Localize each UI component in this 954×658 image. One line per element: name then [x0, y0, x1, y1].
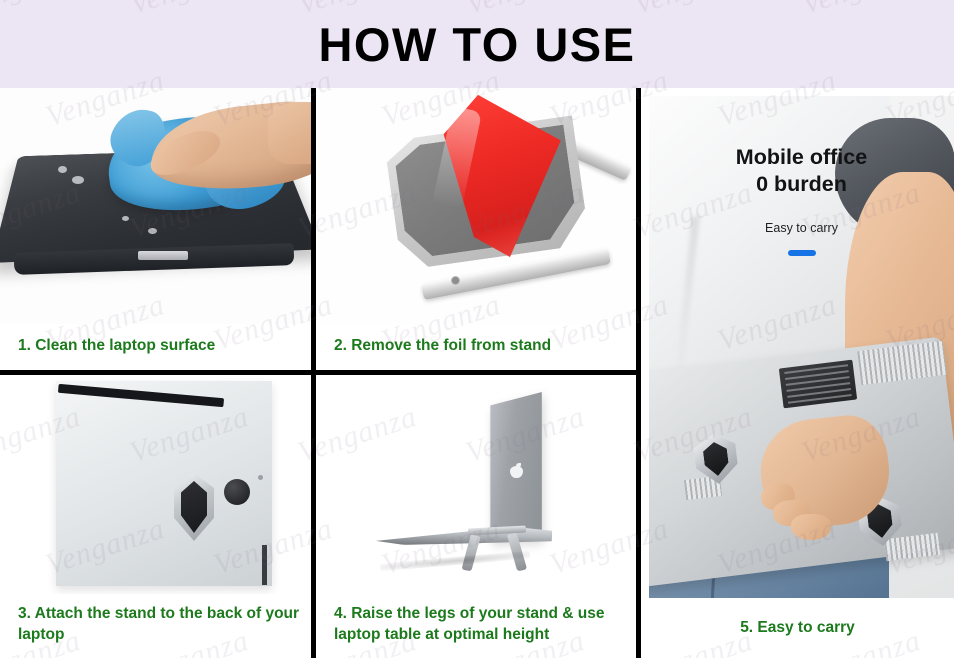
page-title: HOW TO USE [318, 17, 635, 72]
left-column: 1. Clean the laptop surface 2. Remove th… [0, 88, 636, 658]
page-header: HOW TO USE [0, 0, 954, 88]
apple-logo-icon [510, 463, 523, 478]
step-card-3: 3. Attach the stand to the back of your … [0, 375, 311, 658]
step-3-caption: 3. Attach the stand to the back of your … [18, 604, 301, 645]
step-4-photo [316, 375, 636, 594]
how-to-use-infographic: HOW TO USE [0, 0, 954, 658]
step-2-caption: 2. Remove the foil from stand [334, 336, 551, 357]
step-3-caption-bar: 3. Attach the stand to the back of your … [0, 594, 311, 658]
step-card-1: 1. Clean the laptop surface [0, 88, 311, 370]
step-4-caption: 4. Raise the legs of your stand & use la… [334, 604, 626, 645]
step-5-caption: 5. Easy to carry [740, 618, 855, 639]
water-spot-1 [58, 166, 67, 173]
laptop-side-edge [262, 545, 267, 585]
step-2-photo [316, 88, 636, 324]
forearm-shape [268, 102, 311, 164]
finger-3 [791, 514, 831, 540]
step-card-5: Mobile office 0 burden Easy to carry 5. … [641, 88, 954, 658]
step-3-photo [0, 375, 311, 594]
step-4-caption-bar: 4. Raise the legs of your stand & use la… [316, 594, 636, 658]
promo-title-line1: Mobile office [649, 144, 954, 171]
step-1-caption: 1. Clean the laptop surface [18, 336, 215, 357]
laptop-latch-shape [138, 251, 188, 260]
promo-title: Mobile office 0 burden [649, 144, 954, 199]
step-2-caption-bar: 2. Remove the foil from stand [316, 324, 636, 370]
step-card-2: 2. Remove the foil from stand [316, 88, 636, 370]
steps-grid: 1. Clean the laptop surface 2. Remove th… [0, 88, 954, 658]
step-5-caption-bar: 5. Easy to carry [641, 598, 954, 658]
promo-subtitle: Easy to carry [649, 221, 954, 235]
water-spot-4 [148, 228, 157, 234]
step-5-photo: Mobile office 0 burden Easy to carry [649, 96, 954, 598]
stand-pivot-screw [451, 276, 460, 285]
accent-divider-bar [788, 250, 816, 256]
step-card-4: 4. Raise the legs of your stand & use la… [316, 375, 636, 658]
step-1-photo [0, 88, 311, 324]
water-spot-2 [72, 176, 84, 184]
rubber-foot-shape [224, 479, 250, 505]
water-spot-3 [122, 216, 129, 221]
screw-pin [258, 475, 263, 480]
promo-text-overlay: Mobile office 0 burden Easy to carry [649, 96, 954, 356]
step-1-caption-bar: 1. Clean the laptop surface [0, 324, 311, 370]
promo-title-line2: 0 burden [649, 171, 954, 198]
